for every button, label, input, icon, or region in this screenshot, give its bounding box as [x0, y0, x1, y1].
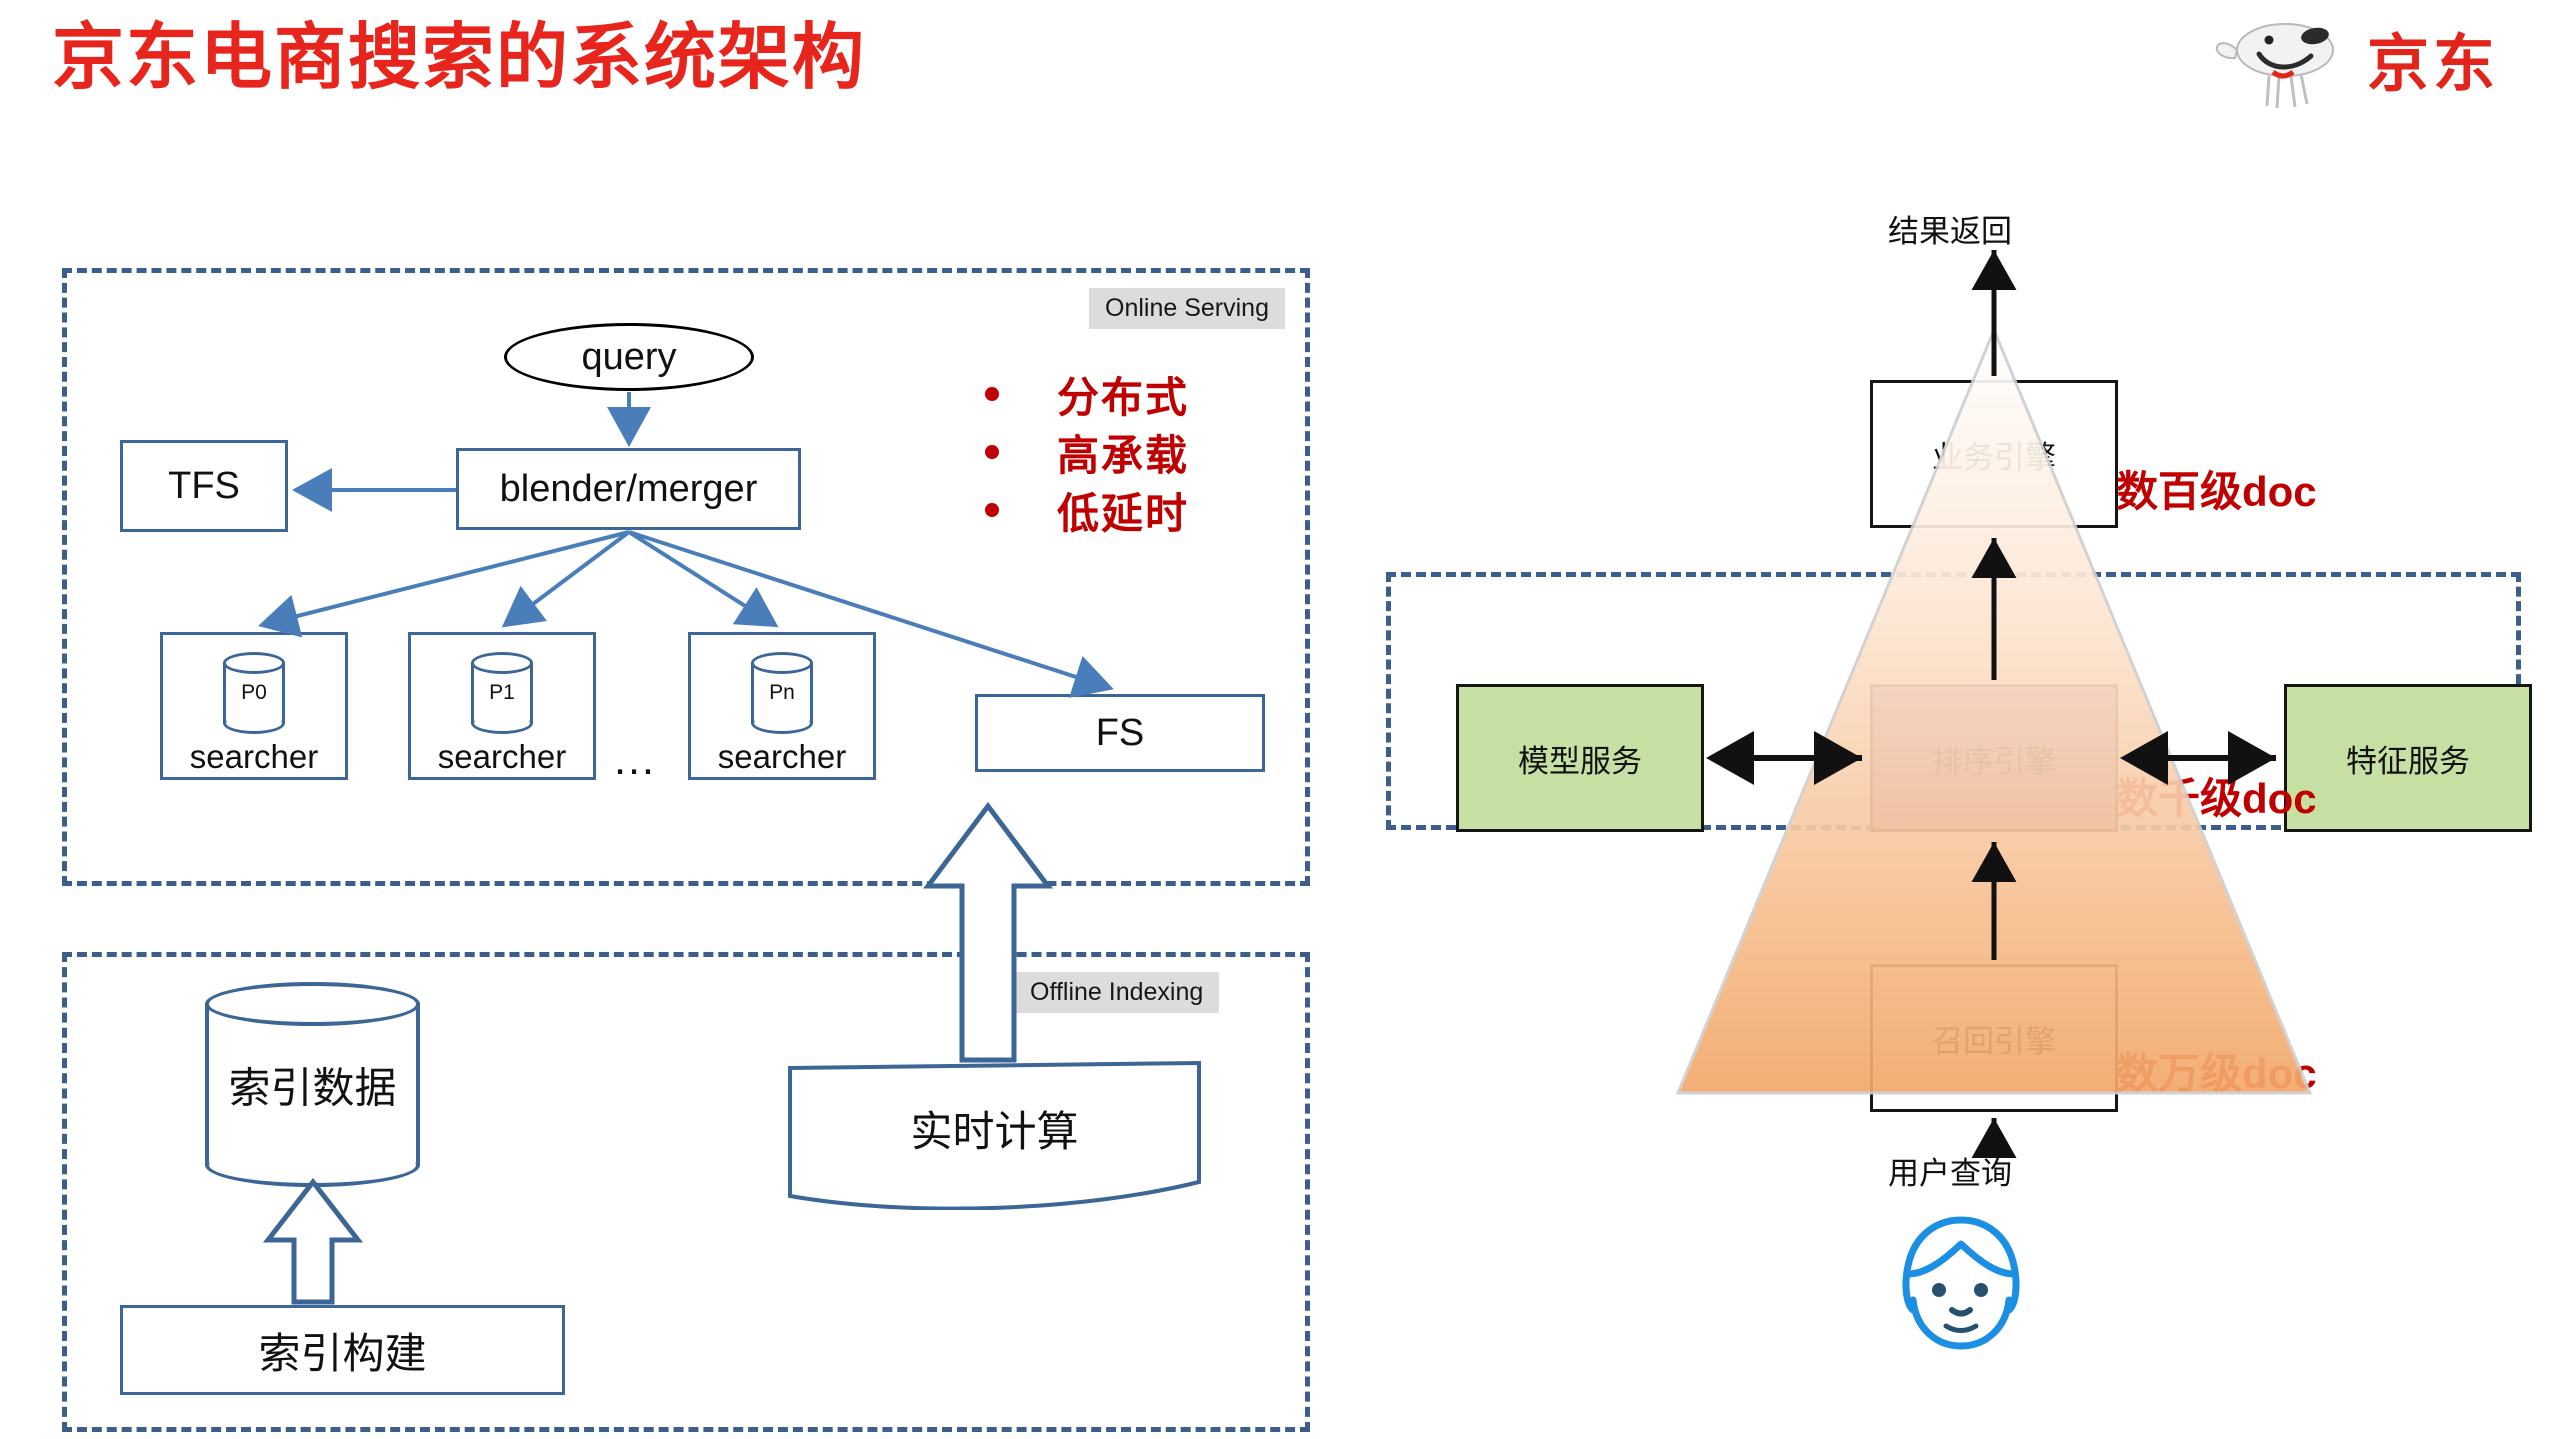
- recall-engine-node[interactable]: 召回引擎: [1870, 964, 2118, 1112]
- shard-cylinder-pn: Pn: [751, 652, 813, 734]
- shard-label: P1: [471, 681, 533, 705]
- index-build-node[interactable]: 索引构建: [120, 1305, 565, 1395]
- bullet-label: 低延时: [1057, 480, 1189, 541]
- shard-label: Pn: [751, 681, 813, 705]
- ranking-engine-node[interactable]: 排序引擎: [1870, 684, 2118, 832]
- bullet-dot-icon: [985, 387, 999, 401]
- searcher-ellipsis: …: [612, 735, 656, 785]
- searcher-label-p1: searcher: [408, 738, 596, 776]
- shard-cylinder-p1: P1: [471, 652, 533, 734]
- jd-logo-text: 京东: [2367, 34, 2499, 96]
- feature-service-node[interactable]: 特征服务: [2284, 684, 2532, 832]
- online-serving-tag: Online Serving: [1089, 288, 1285, 329]
- blender-merger-node[interactable]: blender/merger: [456, 448, 801, 530]
- business-engine-node[interactable]: 业务引擎: [1870, 380, 2118, 528]
- realtime-compute-node[interactable]: 实时计算: [787, 1060, 1202, 1205]
- doc-scale-label-top: 数百级doc: [2116, 458, 2317, 519]
- bullet-dot-icon: [985, 503, 999, 517]
- feature-bullet-list: 分布式 高承载 低延时: [985, 365, 1189, 539]
- tfs-node[interactable]: TFS: [120, 440, 288, 532]
- bullet-label: 分布式: [1057, 364, 1189, 425]
- bullet-item: 分布式: [985, 365, 1189, 423]
- fs-node[interactable]: FS: [975, 694, 1265, 772]
- realtime-compute-label: 实时计算: [787, 1098, 1202, 1159]
- doc-scale-label-bottom: 数万级doc: [2116, 1040, 2317, 1101]
- model-service-node[interactable]: 模型服务: [1456, 684, 1704, 832]
- query-node[interactable]: query: [504, 323, 754, 391]
- user-face-icon: [1868, 1200, 2054, 1366]
- bullet-item: 高承载: [985, 423, 1189, 481]
- page-title: 京东电商搜索的系统架构: [52, 22, 866, 94]
- index-data-label: 索引数据: [205, 1054, 420, 1115]
- searcher-label-pn: searcher: [688, 738, 876, 776]
- bullet-item: 低延时: [985, 481, 1189, 539]
- bullet-dot-icon: [985, 445, 999, 459]
- searcher-label-p0: searcher: [160, 738, 348, 776]
- jd-dog-mascot-icon: [2207, 14, 2357, 115]
- index-data-node[interactable]: 索引数据: [205, 982, 420, 1187]
- offline-indexing-tag: Offline Indexing: [1014, 972, 1219, 1013]
- jd-logo: 京东: [2207, 14, 2499, 115]
- bullet-label: 高承载: [1057, 422, 1189, 483]
- shard-cylinder-p0: P0: [223, 652, 285, 734]
- shard-label: P0: [223, 681, 285, 705]
- result-return-label: 结果返回: [1888, 206, 2012, 251]
- user-query-label: 用户查询: [1888, 1148, 2012, 1193]
- doc-scale-label-mid: 数千级doc: [2116, 765, 2317, 826]
